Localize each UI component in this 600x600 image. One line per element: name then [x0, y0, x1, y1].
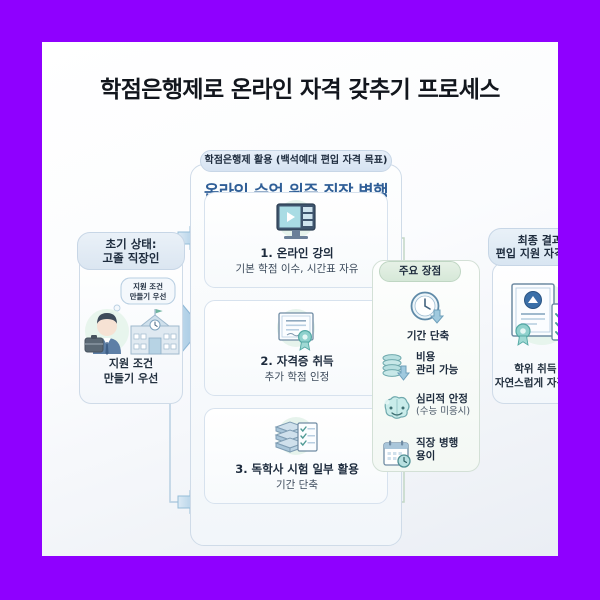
- final-result-group: 최종 결과: 편입 지원 자격 완성: [490, 228, 558, 408]
- step-3-title: 3. 독학사 시험 일부 활용: [205, 461, 389, 477]
- benefit-item-3-sublabel: (수능 미응시): [416, 406, 480, 418]
- benefit-item-2: 비용 관리 가능: [376, 348, 480, 390]
- certificate-ribbon-icon: [268, 307, 324, 353]
- benefit-item-4-text: 직장 병행 용이: [416, 437, 480, 464]
- final-result-caption-line2: 자연스럽게 자격 갖춤: [488, 376, 558, 390]
- speech-bubble-icon: 지원 조건 만들기 우선: [110, 278, 175, 316]
- benefit-item-1-label: 기간 단축: [376, 328, 480, 343]
- initial-state-caption-line2: 만들기 우선: [79, 372, 183, 387]
- step-1-title: 1. 온라인 강의: [205, 245, 389, 261]
- benefits-badge: 주요 장점: [379, 261, 461, 282]
- brain-happy-icon: [380, 392, 414, 426]
- step-2-title: 2. 자격증 취득: [205, 353, 389, 369]
- diploma-clipboard-check-icon: [496, 274, 558, 358]
- final-result-badge-line2: 편입 지원 자격 완성: [496, 247, 558, 260]
- initial-state-caption: 지원 조건 만들기 우선: [79, 357, 183, 386]
- benefit-item-3-text: 심리적 안정 (수능 미응시): [416, 393, 480, 419]
- step-card-2[interactable]: 2. 자격증 취득 추가 학점 인정: [204, 300, 388, 396]
- page-title: 학점은행제로 온라인 자격 갖추기 프로세스: [42, 70, 558, 104]
- step-1-subtitle: 기본 학점 이수, 시간표 자유: [205, 261, 389, 276]
- screenshot-root: 학점은행제로 온라인 자격 갖추기 프로세스: [0, 0, 600, 600]
- initial-state-badge-line1: 초기 상태:: [103, 237, 160, 251]
- step-2-subtitle: 추가 학점 인정: [205, 369, 389, 384]
- benefit-item-4-line1: 직장 병행: [416, 437, 480, 450]
- checklist-paper: [298, 423, 317, 451]
- center-badge: 학점은행제 활용 (백석예대 편입 자격 목표): [200, 150, 392, 172]
- step-card-1[interactable]: 1. 온라인 강의 기본 학점 이수, 시간표 자유: [204, 192, 388, 288]
- svg-text:지원 조건: 지원 조건: [133, 282, 163, 291]
- school-building-icon: [131, 309, 179, 354]
- final-result-caption: 학위 취득 후 자연스럽게 자격 갖춤: [488, 362, 558, 390]
- final-result-caption-line1: 학위 취득 후: [488, 362, 558, 376]
- benefit-item-1: 기간 단축: [376, 290, 480, 346]
- infographic-card: 학점은행제로 온라인 자격 갖추기 프로세스: [42, 42, 558, 556]
- initial-state-badge-line2: 고졸 직장인: [103, 251, 160, 265]
- final-result-badge: 최종 결과: 편입 지원 자격 완성: [488, 228, 558, 266]
- office-worker-school-illustration: 지원 조건 만들기 우선: [79, 276, 183, 358]
- initial-state-caption-line1: 지원 조건: [79, 357, 183, 372]
- coins-down-arrow-icon: [380, 350, 414, 384]
- final-result-badge-line1: 최종 결과:: [496, 234, 558, 247]
- benefit-item-3: 심리적 안정 (수능 미응시): [376, 390, 480, 432]
- svg-text:만들기 우선: 만들기 우선: [130, 292, 167, 301]
- books-checklist-icon: [268, 415, 324, 461]
- initial-state-badge: 초기 상태: 고졸 직장인: [77, 232, 185, 270]
- step-card-3[interactable]: 3. 독학사 시험 일부 활용 기간 단축: [204, 408, 388, 504]
- benefit-item-4-line2: 용이: [416, 450, 480, 463]
- initial-state-group: 초기 상태: 고졸 직장인 지원 조건 만들기 우선: [77, 232, 185, 407]
- step-3-subtitle: 기간 단축: [205, 477, 389, 492]
- benefit-item-2-text: 비용 관리 가능: [416, 351, 480, 378]
- benefit-item-4: 직장 병행 용이: [376, 434, 480, 476]
- benefit-item-2-line2: 관리 가능: [416, 364, 480, 377]
- benefit-item-3-line1: 심리적 안정: [416, 393, 480, 406]
- desktop-monitor-play-icon: [268, 199, 324, 245]
- clock-down-arrow-icon: [408, 290, 448, 326]
- benefit-item-2-line1: 비용: [416, 351, 480, 364]
- calendar-clock-icon: [380, 436, 414, 470]
